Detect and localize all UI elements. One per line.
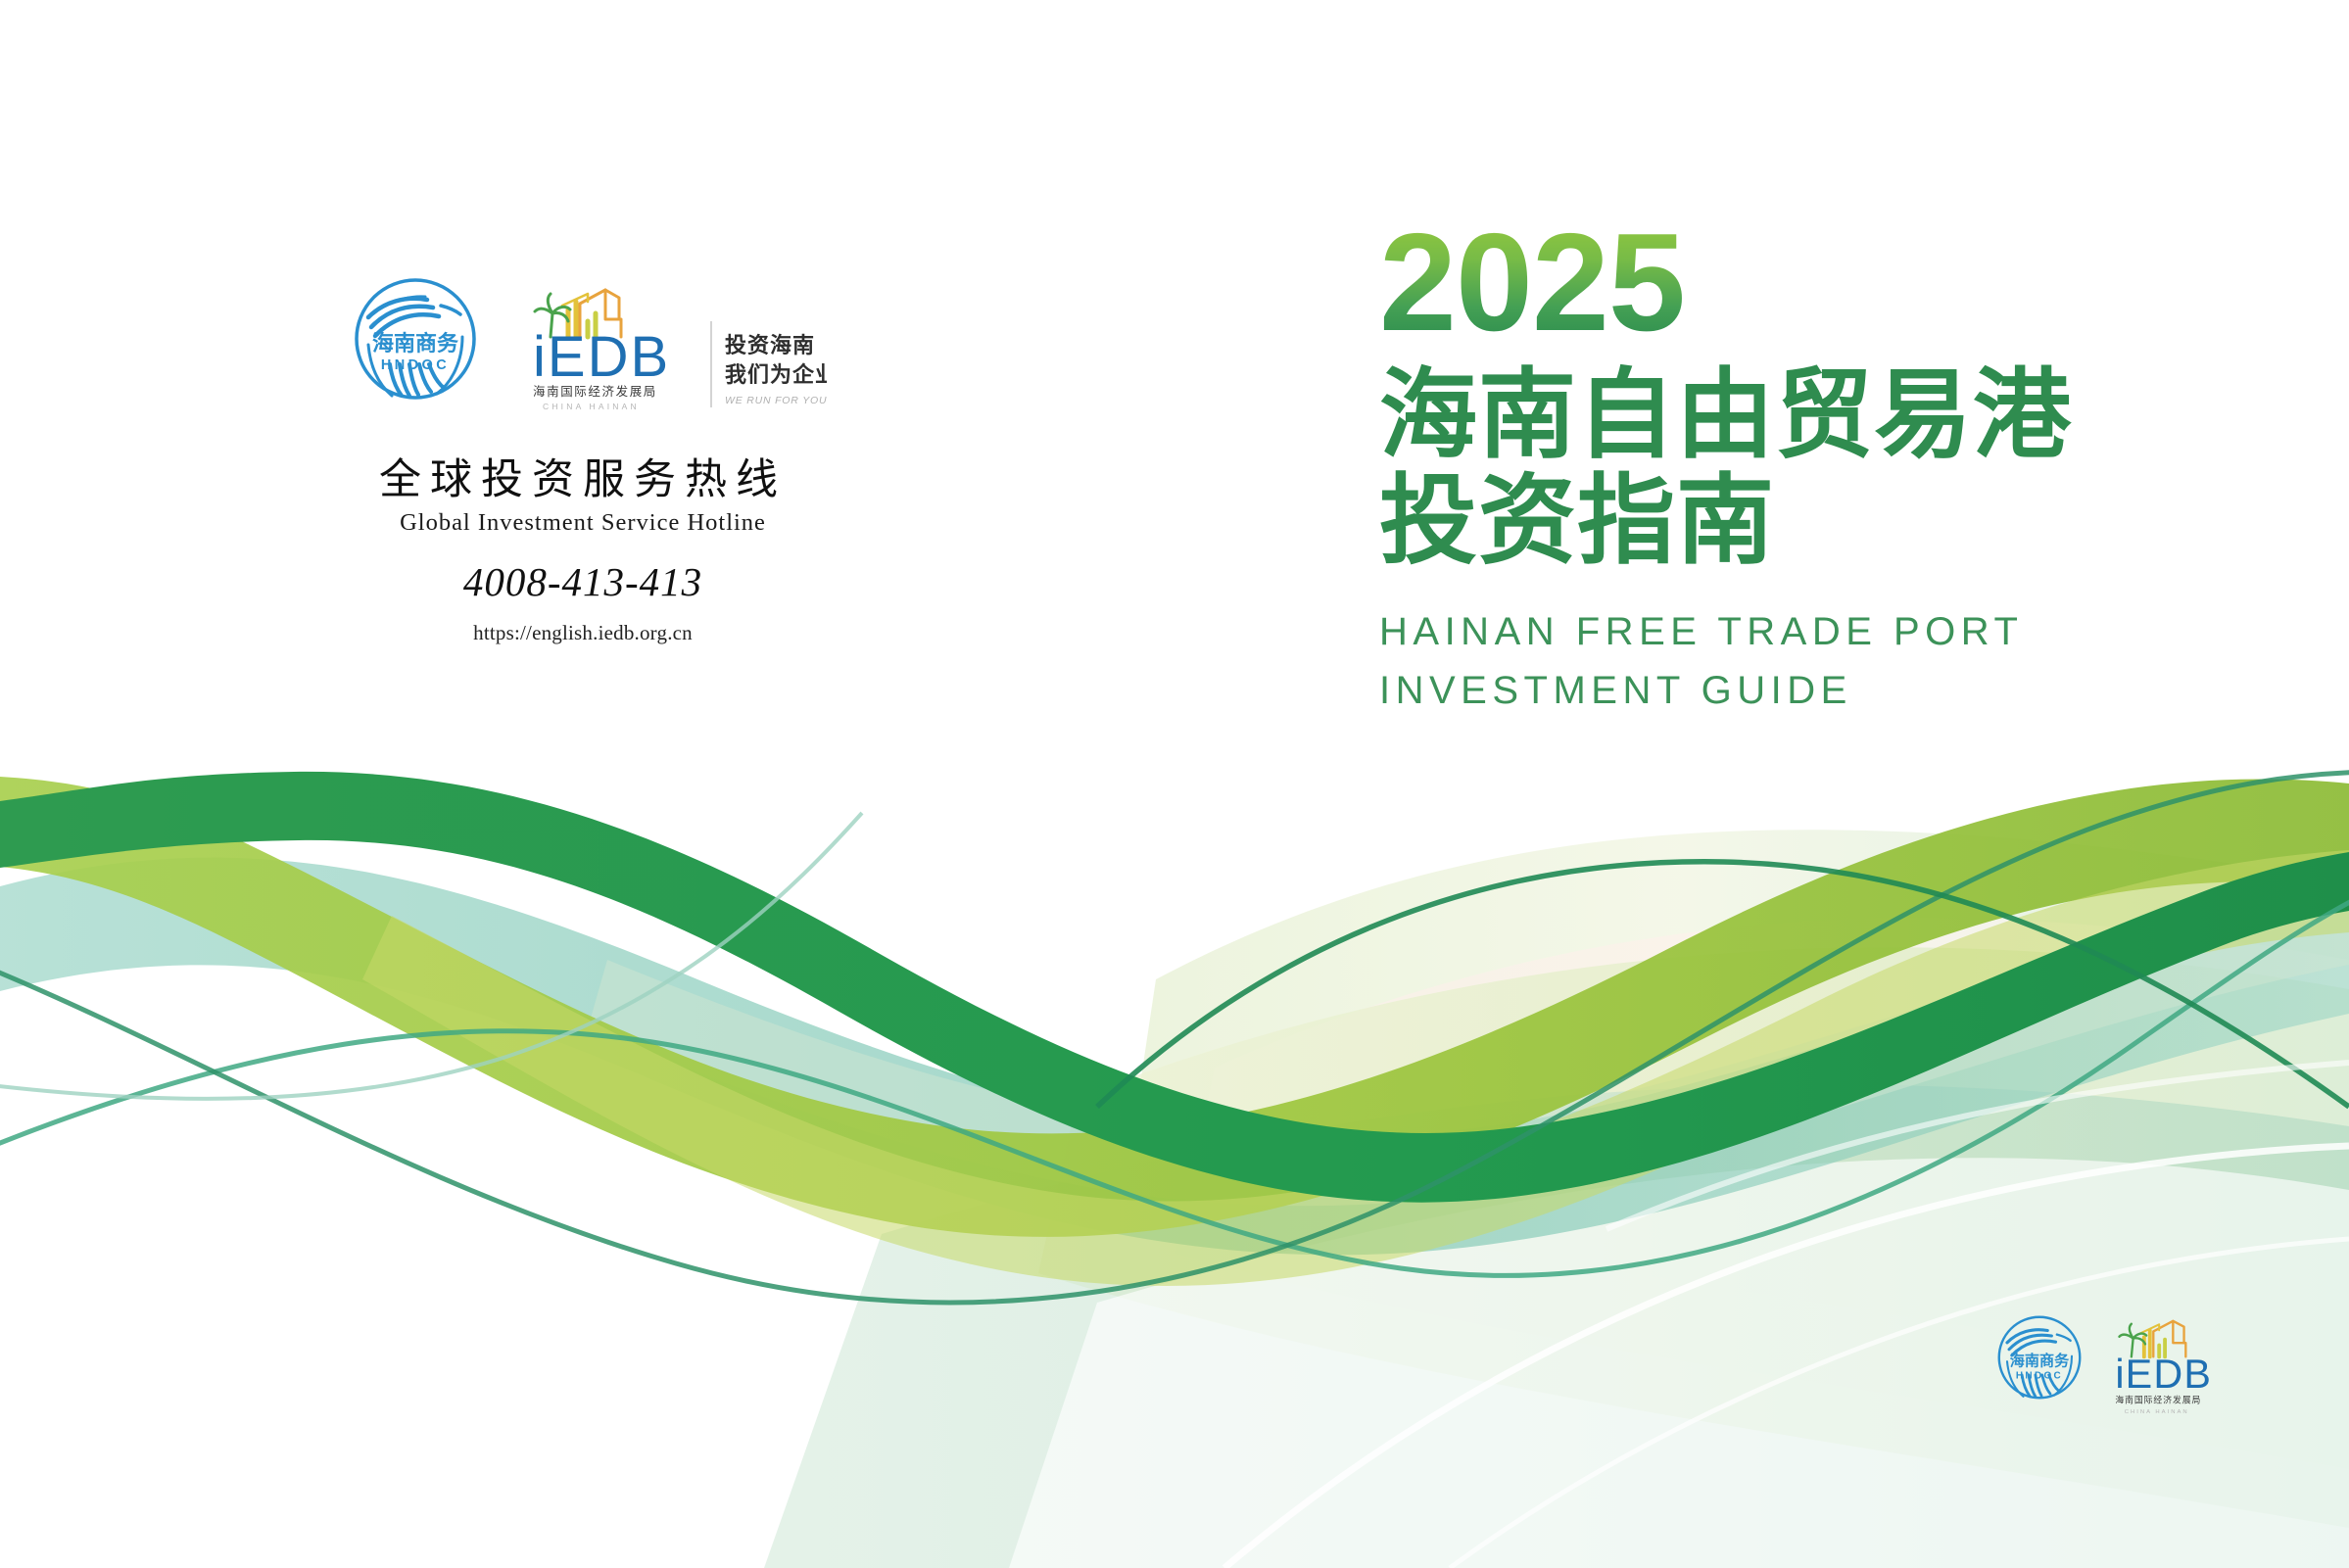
iedb-wordmark: iEDB	[533, 325, 670, 389]
iedb-logo: iEDB 海南国际经济发展局 CHINA HAINAN	[2100, 1314, 2216, 1420]
iedb-slogan-en: WE RUN FOR YOUR BUSINESS	[725, 395, 827, 406]
iedb-cn-subtitle: 海南国际经济发展局	[2115, 1395, 2201, 1406]
hotline-phone-number[interactable]: 4008-413-413	[353, 558, 813, 605]
iedb-slogan-cn-line2: 我们为企业跑	[725, 362, 827, 388]
cover-title-en-line1: HAINAN FREE TRADE PORT	[1379, 602, 2072, 661]
cover-title-block: 2025 海南自由贸易港 投资指南 HAINAN FREE TRADE PORT…	[1379, 217, 2072, 720]
hndoc-logo: 海南商务 HNDOC	[1996, 1314, 2083, 1401]
hndoc-logo: 海南商务 HNDOC	[353, 276, 478, 402]
cover-title-cn-line1: 海南自由贸易港	[1379, 359, 2072, 471]
iedb-cn-subtitle: 海南国际经济发展局	[533, 384, 657, 399]
footer-logo-pair: 海南商务 HNDOC iEDB 海南国际经济发展局 CHINA HAINAN	[1996, 1314, 2216, 1420]
hndoc-logo-cn-text: 海南商务	[2010, 1352, 2070, 1369]
cover-year: 2025	[1379, 217, 2072, 350]
cover-title-cn-line2: 投资指南	[1379, 465, 2072, 577]
cover-title-en-line2: INVESTMENT GUIDE	[1379, 661, 2072, 720]
hotline-website-url[interactable]: https://english.iedb.org.cn	[353, 621, 813, 645]
logo-row: 海南商务 HNDOC	[353, 276, 862, 423]
iedb-en-subtitle: CHINA HAINAN	[2125, 1409, 2189, 1415]
iedb-logo: iEDB 海南国际经济发展局 CHINA HAINAN 投资海南 我们为企业跑 …	[503, 280, 827, 417]
hotline-title-cn: 全球投资服务热线	[353, 458, 813, 503]
hndoc-logo-en-text: HNDOC	[2016, 1370, 2063, 1381]
hndoc-logo-en-text: HNDOC	[381, 357, 450, 373]
hotline-title-en: Global Investment Service Hotline	[353, 509, 813, 537]
iedb-slogan-cn-line1: 投资海南	[725, 333, 815, 358]
iedb-en-subtitle: CHINA HAINAN	[543, 402, 640, 411]
iedb-wordmark: iEDB	[2115, 1352, 2212, 1397]
cover-page: 海南商务 HNDOC	[0, 0, 2349, 1568]
hotline-block: 全球投资服务热线 Global Investment Service Hotli…	[353, 458, 813, 645]
hndoc-logo-cn-text: 海南商务	[372, 331, 459, 356]
organization-info-block: 海南商务 HNDOC	[353, 276, 862, 645]
